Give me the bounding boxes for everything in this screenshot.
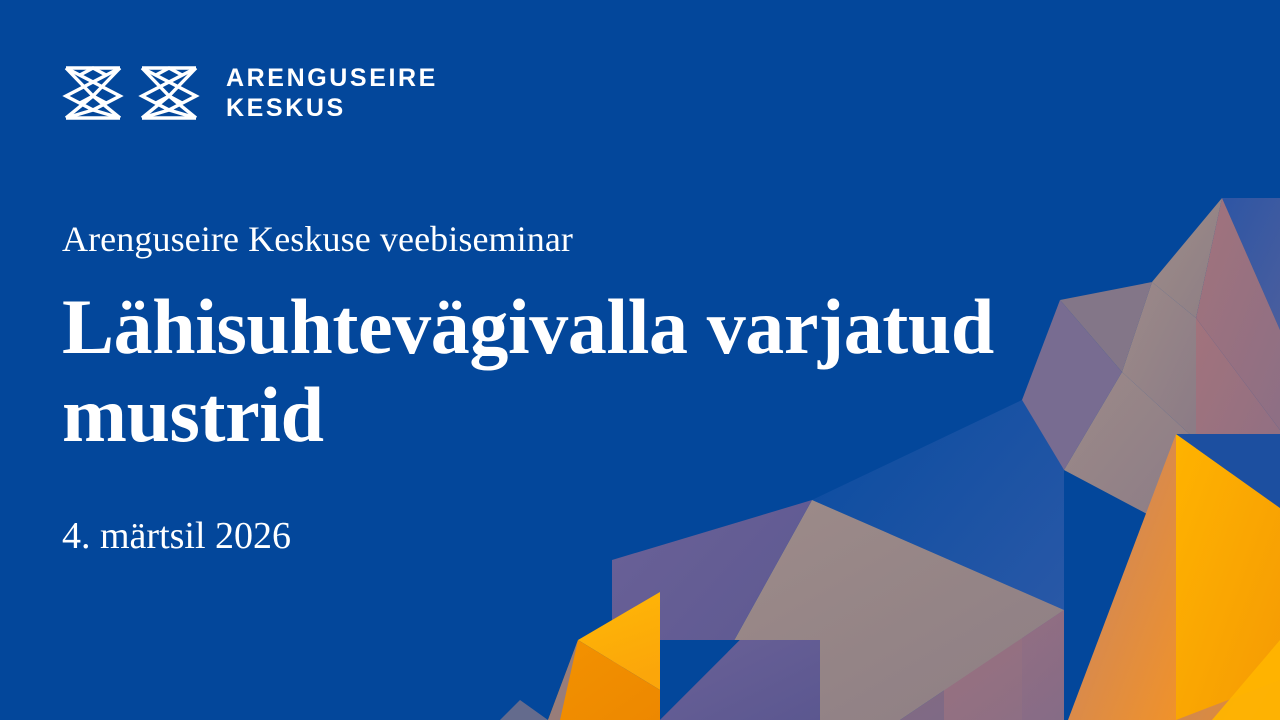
- braid-mark-glyph-2: [138, 62, 200, 124]
- brand-logo: ARENGUSEIRE KESKUS: [62, 62, 438, 124]
- eyebrow-text: Arenguseire Keskuse veebiseminar: [62, 218, 1182, 261]
- event-date: 4. märtsil 2026: [62, 514, 1182, 560]
- wordmark-line-2: KESKUS: [226, 96, 438, 121]
- brand-wordmark: ARENGUSEIRE KESKUS: [226, 66, 438, 121]
- braid-mark-icon: [62, 62, 200, 124]
- title-text-block: Arenguseire Keskuse veebiseminar Lähisuh…: [62, 218, 1182, 560]
- page-title: Lähisuhtevägivalla varjatud mustrid: [62, 283, 1172, 458]
- wordmark-line-1: ARENGUSEIRE: [226, 66, 438, 91]
- title-slide: ARENGUSEIRE KESKUS Arenguseire Keskuse v…: [0, 0, 1280, 720]
- braid-mark-glyph-1: [62, 62, 124, 124]
